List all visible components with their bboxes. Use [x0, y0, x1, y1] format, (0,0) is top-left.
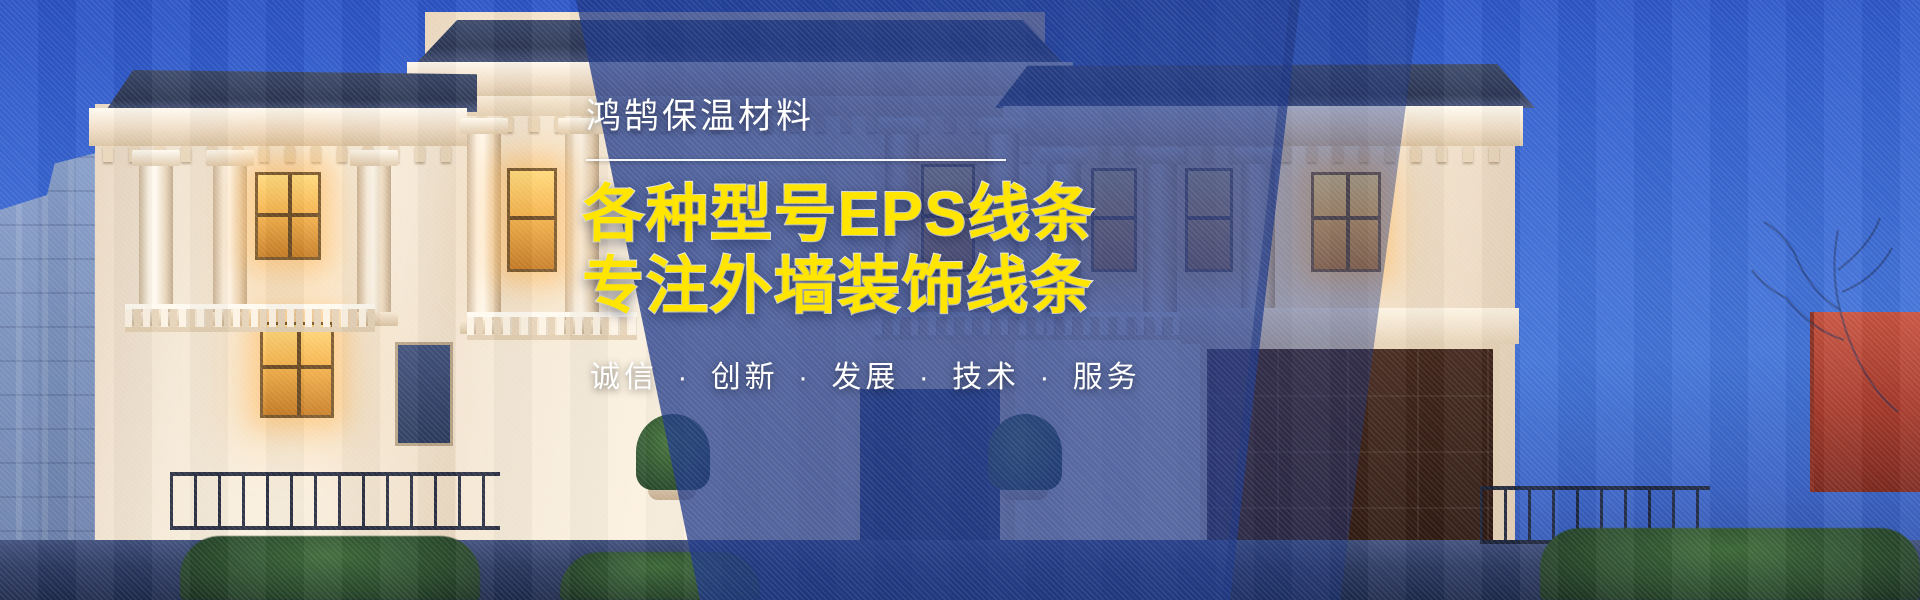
divider-rule [586, 159, 1006, 161]
tagline-item-3: 技术 [952, 361, 1020, 394]
tagline-item-4: 服务 [1073, 361, 1141, 394]
tagline-separator: · [1032, 361, 1060, 394]
lit-window [260, 322, 334, 418]
headline-line-2: 专注外墙装饰线条 [582, 251, 1338, 324]
column [213, 164, 247, 314]
promo-banner: 鸿鹄保温材料 各种型号EPS线条 专注外墙装饰线条 诚信 · 创新 · 发展 ·… [0, 0, 1920, 600]
banner-copy: 鸿鹄保温材料 各种型号EPS线条 专注外墙装饰线条 诚信 · 创新 · 发展 ·… [578, 98, 1338, 396]
lit-window [507, 168, 557, 272]
headline-line-1: 各种型号EPS线条 [582, 180, 1096, 249]
headline: 各种型号EPS线条 专注外墙装饰线条 [582, 179, 1338, 324]
villa-left-roof [77, 70, 477, 112]
lit-window [255, 172, 321, 260]
hedge [1540, 528, 1920, 600]
dark-window [395, 342, 453, 446]
tagline: 诚信 · 创新 · 发展 · 技术 · 服务 [590, 352, 1338, 396]
villa-left-cornice [89, 108, 467, 146]
iron-railing [170, 472, 500, 530]
column [139, 164, 173, 314]
column [357, 164, 391, 314]
balustrade [125, 304, 375, 332]
column [467, 132, 501, 322]
tagline-separator: · [670, 361, 698, 394]
hedge [180, 536, 480, 600]
brand-name: 鸿鹄保温材料 [586, 98, 1338, 137]
tagline-item-1: 创新 [711, 361, 779, 394]
tagline-separator: · [791, 361, 819, 394]
tagline-item-2: 发展 [831, 361, 899, 394]
tagline-separator: · [912, 361, 940, 394]
bare-tree [1720, 200, 1900, 420]
tagline-item-0: 诚信 [590, 361, 658, 394]
